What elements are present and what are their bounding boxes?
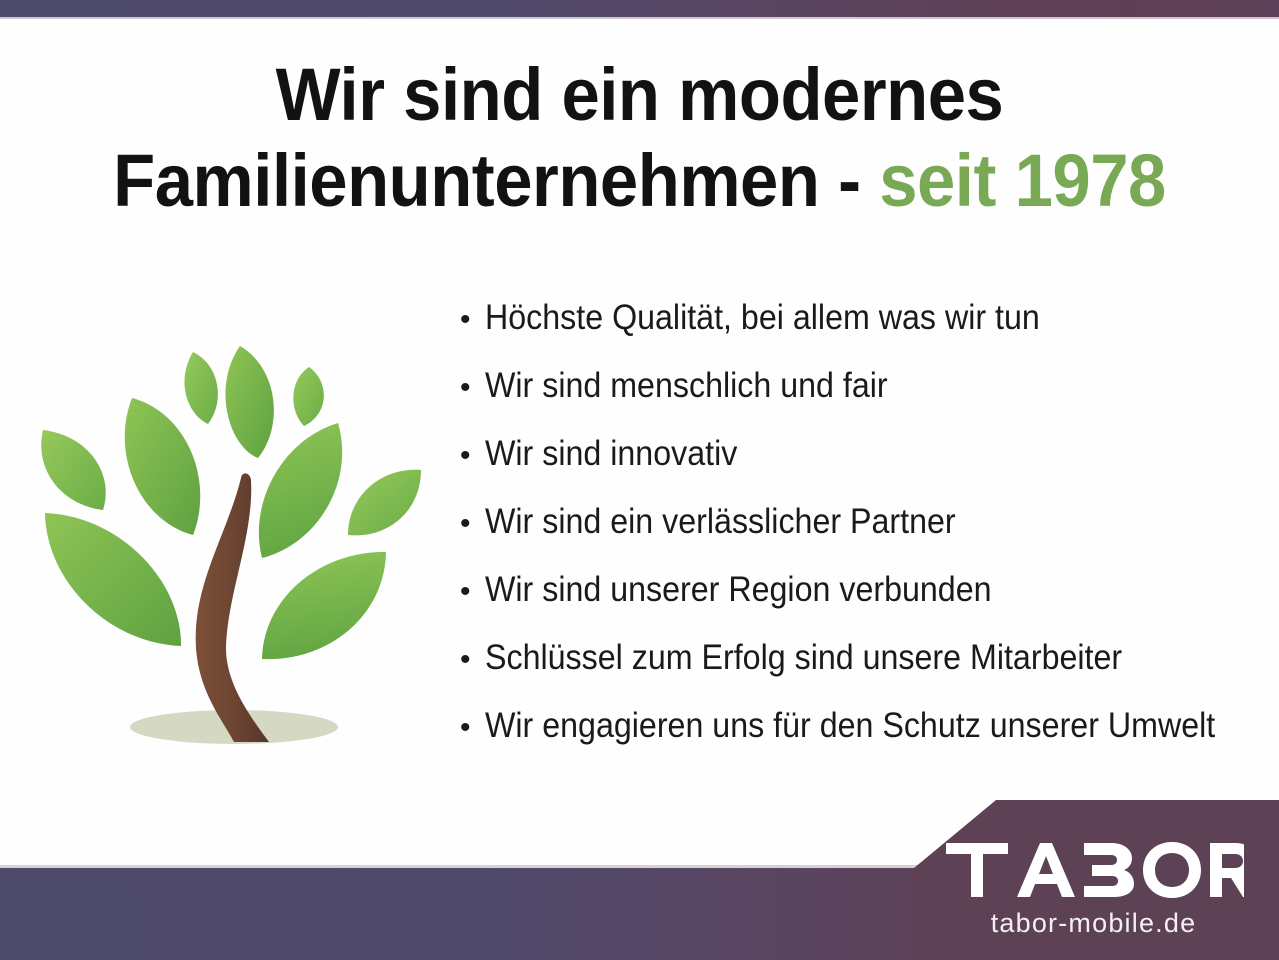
list-item-label: Wir sind menschlich und fair	[485, 368, 1203, 403]
list-item: • Wir sind ein verlässlicher Partner	[455, 504, 1265, 572]
list-item-label: Wir sind unserer Region verbunden	[485, 572, 1203, 607]
top-accent-bar	[0, 0, 1279, 17]
list-item-label: Wir engagieren uns für den Schutz unsere…	[485, 708, 1215, 743]
list-item-label: Höchste Qualität, bei allem was wir tun	[485, 300, 1203, 335]
value-list: • Höchste Qualität, bei allem was wir tu…	[455, 300, 1265, 776]
tree-leaf-1	[184, 352, 217, 424]
headline-accent-year: seit 1978	[879, 139, 1166, 222]
list-item: • Wir sind unserer Region verbunden	[455, 572, 1265, 640]
tree-leaf-9	[262, 552, 386, 659]
tree-icon	[28, 330, 440, 762]
tree-leaf-3	[293, 367, 324, 426]
tree-leaf-8	[45, 513, 181, 646]
page-title: Wir sind ein modernes Familienunternehme…	[45, 52, 1234, 224]
tabor-wordmark-icon	[944, 839, 1244, 901]
list-item-label: Wir sind ein verlässlicher Partner	[485, 504, 1203, 539]
tree-leaf-4	[125, 398, 201, 535]
list-item: • Höchste Qualität, bei allem was wir tu…	[455, 300, 1265, 368]
bullet-marker-icon: •	[455, 441, 485, 471]
list-item-label: Schlüssel zum Erfolg sind unsere Mitarbe…	[485, 640, 1203, 675]
bullet-marker-icon: •	[455, 577, 485, 607]
list-item-label: Wir sind innovativ	[485, 436, 1203, 471]
list-item: • Wir sind innovativ	[455, 436, 1265, 504]
headline-line-2: Familienunternehmen - seit 1978	[45, 138, 1234, 224]
list-item: • Schlüssel zum Erfolg sind unsere Mitar…	[455, 640, 1265, 708]
list-item: • Wir engagieren uns für den Schutz unse…	[455, 708, 1265, 776]
tree-leaf-2	[225, 346, 273, 458]
bullet-marker-icon: •	[455, 305, 485, 335]
top-accent-bar-highlight	[0, 17, 1279, 19]
headline-line-1: Wir sind ein modernes	[45, 52, 1234, 138]
brand-logo: tabor-mobile.de	[908, 800, 1279, 960]
tree-trunk	[196, 473, 269, 742]
bullet-marker-icon: •	[455, 713, 485, 743]
tree-leaf-7	[348, 470, 421, 536]
bullet-marker-icon: •	[455, 509, 485, 539]
bullet-marker-icon: •	[455, 373, 485, 403]
headline-line-2-main: Familienunternehmen -	[113, 139, 879, 222]
tree-leaf-5	[41, 430, 105, 510]
slide-canvas: Wir sind ein modernes Familienunternehme…	[0, 0, 1279, 960]
logo-content: tabor-mobile.de	[908, 800, 1279, 960]
bullet-marker-icon: •	[455, 645, 485, 675]
logo-domain-label: tabor-mobile.de	[991, 910, 1197, 937]
tree-leaf-6	[259, 423, 342, 558]
list-item: • Wir sind menschlich und fair	[455, 368, 1265, 436]
